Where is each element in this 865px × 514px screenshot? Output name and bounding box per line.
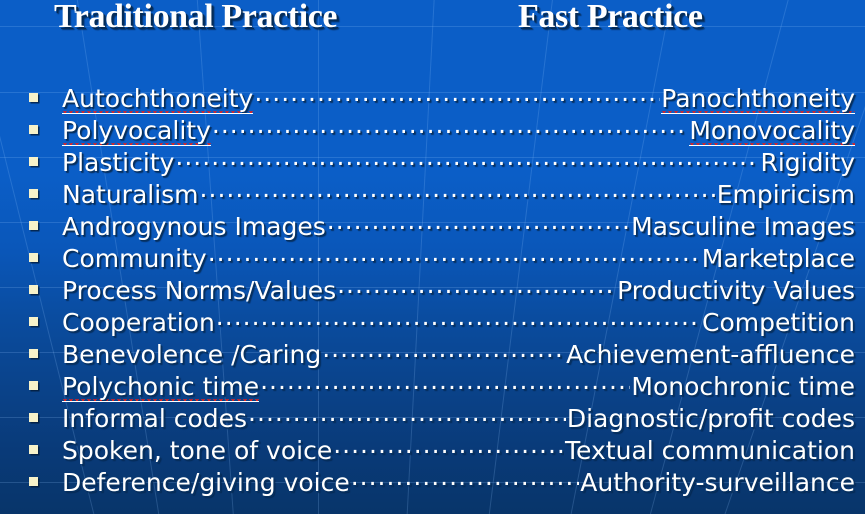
dot-leader [212,114,688,139]
list-item-content: Androgynous ImagesMasculine Images [62,210,855,243]
comparison-list: AutochthoneityPanochthoneityPolyvocality… [0,82,865,498]
fast-practice-term: Authority-surveillance [580,467,855,499]
traditional-practice-term: Androgynous Images [62,211,326,243]
list-item: AutochthoneityPanochthoneity [0,82,865,114]
fast-practice-term: Monochronic time [631,371,855,403]
list-item: Informal codesDiagnostic/profit codes [0,402,865,434]
list-item: Androgynous ImagesMasculine Images [0,210,865,242]
square-bullet-icon [29,125,38,134]
fast-practice-term: Masculine Images [631,211,855,243]
list-item-content: NaturalismEmpiricism [62,178,855,211]
list-item-content: CommunityMarketplace [62,242,855,275]
dot-leader [248,402,566,427]
traditional-practice-term: Informal codes [62,403,247,435]
list-item: Polychonic timeMonochronic time [0,370,865,402]
list-item-content: AutochthoneityPanochthoneity [62,82,855,115]
traditional-practice-term: Community [62,243,207,275]
list-item: Deference/giving voiceAuthority-surveill… [0,466,865,498]
square-bullet-icon [29,413,38,422]
list-item-content: Process Norms/ValuesProductivity Values [62,274,855,307]
fast-practice-term: Textual communication [565,435,855,467]
dot-leader [254,82,660,107]
dot-leader [260,370,630,395]
traditional-practice-term: Polychonic time [62,371,259,403]
list-item: Spoken, tone of voiceTextual communicati… [0,434,865,466]
traditional-practice-term: Benevolence /Caring [62,339,321,371]
list-item: Benevolence /CaringAchievement-affluence [0,338,865,370]
dot-leader [200,178,716,203]
traditional-practice-term: Polyvocality [62,115,211,147]
square-bullet-icon [29,317,38,326]
traditional-practice-term: Deference/giving voice [62,467,350,499]
dot-leader [322,338,565,363]
list-item-content: CooperationCompetition [62,306,855,339]
square-bullet-icon [29,477,38,486]
traditional-practice-term: Plasticity [62,147,174,179]
fast-practice-term: Empiricism [717,179,855,211]
traditional-practice-term: Cooperation [62,307,215,339]
square-bullet-icon [29,285,38,294]
fast-practice-term: Diagnostic/profit codes [567,403,855,435]
fast-practice-term: Competition [702,307,855,339]
fast-practice-term: Productivity Values [617,275,855,307]
list-item: PolyvocalityMonovocality [0,114,865,146]
list-item: Process Norms/ValuesProductivity Values [0,274,865,306]
square-bullet-icon [29,221,38,230]
traditional-practice-term: Autochthoneity [62,83,253,115]
fast-practice-term: Panochthoneity [661,83,855,115]
list-item-content: Deference/giving voiceAuthority-surveill… [62,466,855,499]
traditional-practice-term: Spoken, tone of voice [62,435,332,467]
list-item-content: PlasticityRigidity [62,146,855,179]
dot-leader [327,210,630,235]
fast-practice-term: Rigidity [760,147,855,179]
square-bullet-icon [29,445,38,454]
list-item-content: Informal codesDiagnostic/profit codes [62,402,855,435]
square-bullet-icon [29,157,38,166]
presentation-slide: Traditional Practice Fast Practice Autoc… [0,0,865,514]
dot-leader [333,434,564,459]
list-item-content: Spoken, tone of voiceTextual communicati… [62,434,855,467]
heading-traditional-practice: Traditional Practice [54,0,337,36]
dot-leader [351,466,580,491]
column-headings: Traditional Practice Fast Practice [0,0,865,42]
dot-leader [216,306,701,331]
square-bullet-icon [29,253,38,262]
list-item: CommunityMarketplace [0,242,865,274]
list-item-content: PolyvocalityMonovocality [62,114,855,147]
square-bullet-icon [29,189,38,198]
list-item: PlasticityRigidity [0,146,865,178]
square-bullet-icon [29,349,38,358]
square-bullet-icon [29,381,38,390]
list-item: CooperationCompetition [0,306,865,338]
dot-leader [175,146,759,171]
dot-leader [208,242,701,267]
fast-practice-term: Marketplace [702,243,855,275]
heading-fast-practice: Fast Practice [518,0,703,36]
list-item: NaturalismEmpiricism [0,178,865,210]
traditional-practice-term: Naturalism [62,179,199,211]
traditional-practice-term: Process Norms/Values [62,275,336,307]
dot-leader [337,274,616,299]
list-item-content: Benevolence /CaringAchievement-affluence [62,338,855,371]
list-item-content: Polychonic timeMonochronic time [62,370,855,403]
fast-practice-term: Monovocality [689,115,855,147]
fast-practice-term: Achievement-affluence [566,339,855,371]
square-bullet-icon [29,93,38,102]
